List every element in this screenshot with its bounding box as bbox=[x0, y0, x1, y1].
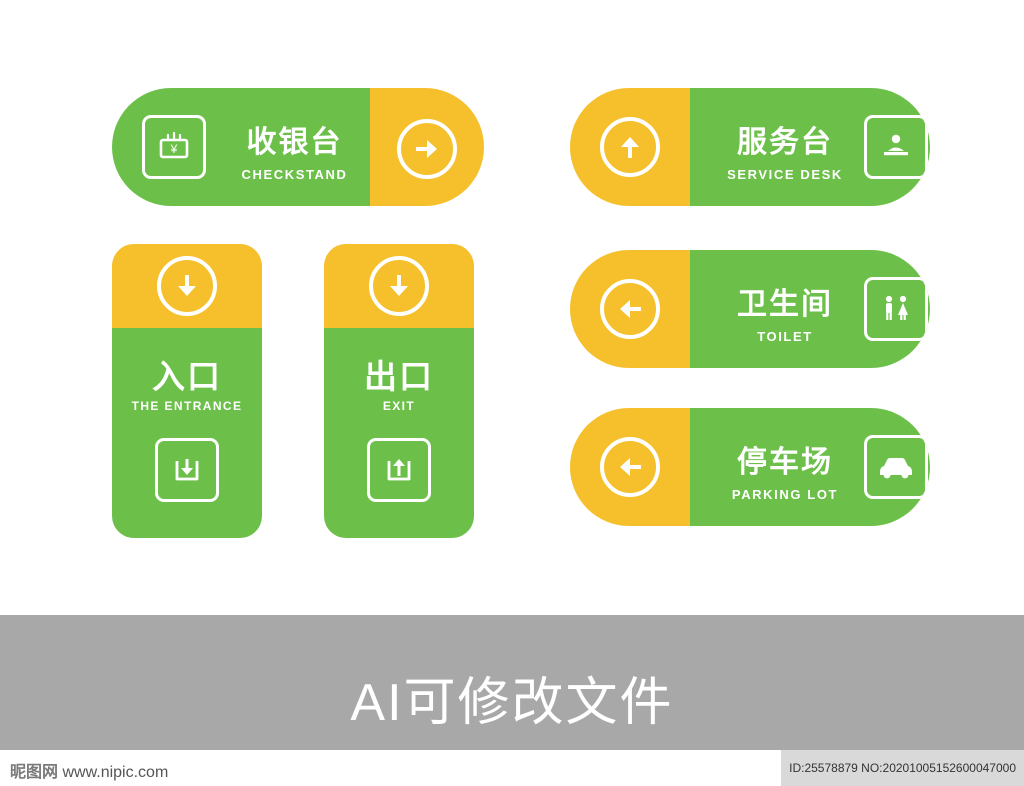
exit-door-icon bbox=[367, 438, 431, 502]
exit-en-label: EXIT bbox=[324, 400, 474, 412]
sign-toilet[interactable]: 卫生间 TOILET bbox=[570, 250, 930, 368]
service-desk-cn-label: 服务台 bbox=[700, 128, 870, 158]
sign-checkstand[interactable]: ¥ 收银台 CHECKSTAND bbox=[112, 88, 484, 206]
artboard: ¥ 收银台 CHECKSTAND 服务台 SERVICE DESK bbox=[0, 0, 1024, 786]
entrance-cn-label: 入口 bbox=[112, 360, 262, 393]
exit-cn-label: 出口 bbox=[324, 360, 474, 393]
sign-service-desk[interactable]: 服务台 SERVICE DESK bbox=[570, 88, 930, 206]
arrow-left-icon bbox=[600, 279, 660, 339]
arrow-up-icon bbox=[600, 117, 660, 177]
toilet-cn-label: 卫生间 bbox=[700, 290, 870, 320]
sign-entrance[interactable]: 入口 THE ENTRANCE bbox=[112, 244, 262, 538]
entrance-en-label: THE ENTRANCE bbox=[112, 400, 262, 412]
arrow-left-icon bbox=[600, 437, 660, 497]
asset-id-code: ID:25578879 NO:20201005152600047000 bbox=[781, 750, 1024, 786]
arrow-down-icon bbox=[369, 256, 429, 316]
watermark-brand: 昵图网 www.nipic.com bbox=[10, 758, 168, 782]
service-person-icon bbox=[864, 115, 928, 179]
sign-exit[interactable]: 出口 EXIT bbox=[324, 244, 474, 538]
brand-site: www.nipic.com bbox=[62, 764, 168, 781]
svg-text:¥: ¥ bbox=[170, 142, 178, 156]
checkstand-en-label: CHECKSTAND bbox=[222, 168, 367, 181]
sign-parking-lot[interactable]: 停车场 PARKING LOT bbox=[570, 408, 930, 526]
service-desk-en-label: SERVICE DESK bbox=[700, 168, 870, 181]
car-icon bbox=[864, 435, 928, 499]
restroom-icon bbox=[864, 277, 928, 341]
brand-logo: 昵图网 bbox=[10, 764, 58, 781]
cashier-icon: ¥ bbox=[142, 115, 206, 179]
parking-cn-label: 停车场 bbox=[700, 448, 870, 478]
enter-door-icon bbox=[155, 438, 219, 502]
toilet-en-label: TOILET bbox=[700, 330, 870, 343]
arrow-right-icon bbox=[397, 119, 457, 179]
checkstand-cn-label: 收银台 bbox=[222, 128, 367, 158]
footer-title: AI可修改文件 bbox=[0, 660, 1024, 735]
parking-en-label: PARKING LOT bbox=[700, 488, 870, 501]
arrow-down-icon bbox=[157, 256, 217, 316]
